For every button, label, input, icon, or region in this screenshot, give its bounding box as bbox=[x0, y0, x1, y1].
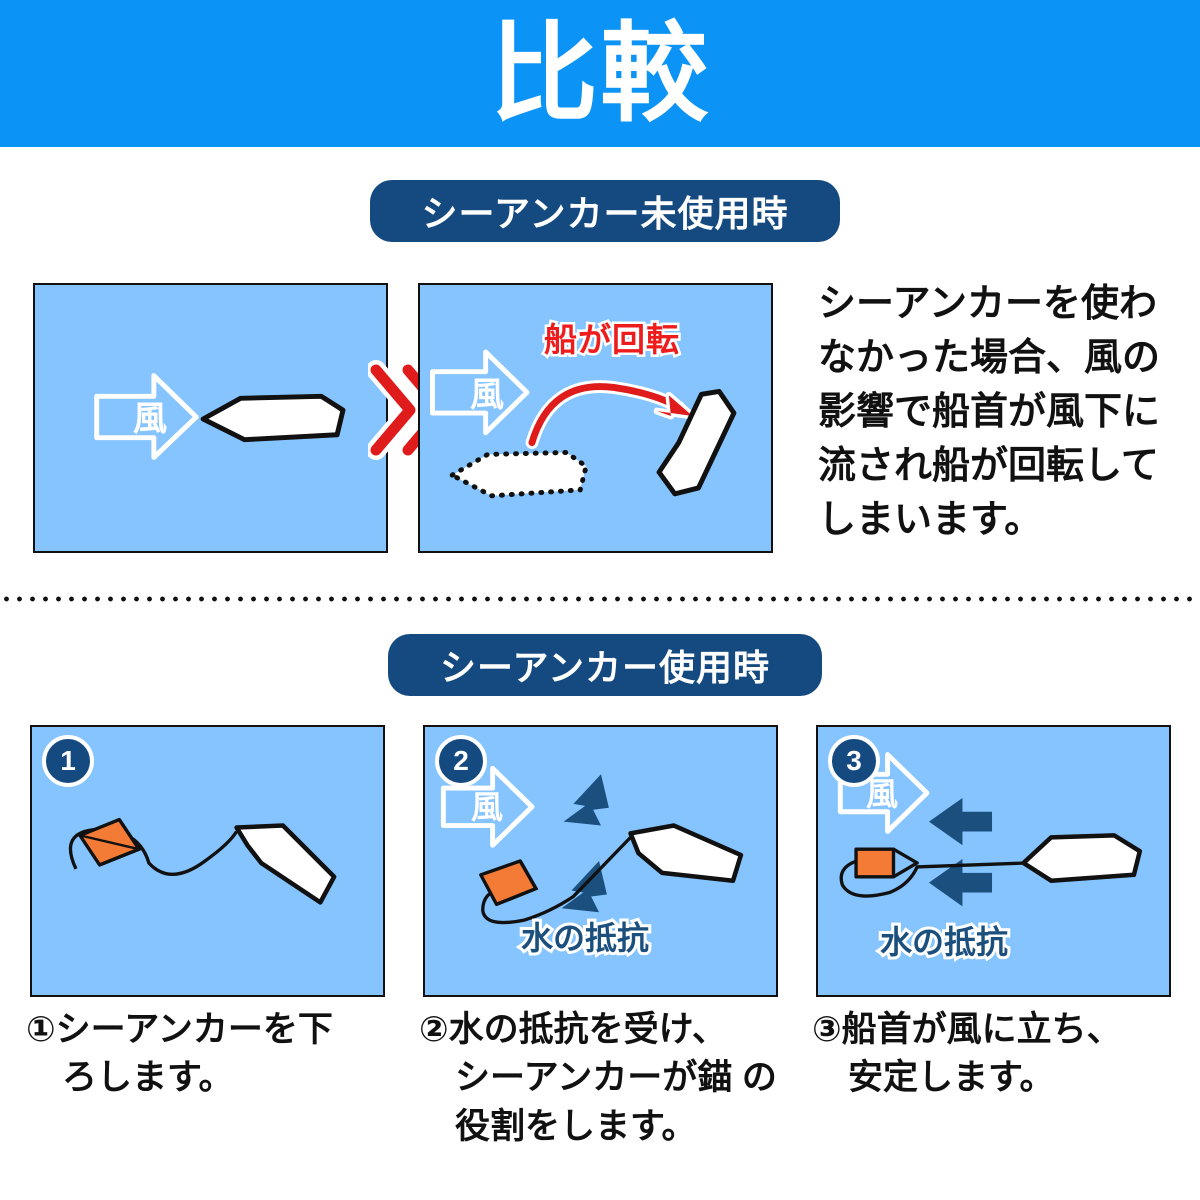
boat-shape bbox=[631, 826, 741, 881]
sea-anchor-shape bbox=[856, 849, 917, 877]
panel-step-2: 2 風 水の抵抗 bbox=[423, 725, 778, 997]
caption-step-1: ①シーアンカーを下 ろします。 bbox=[26, 1006, 386, 1103]
water-resistance-label: 水の抵抗 bbox=[880, 917, 1008, 963]
panel-step-1: 1 bbox=[30, 725, 385, 997]
caption-lead: ③船首が風に立ち、 bbox=[812, 1010, 1122, 1049]
boat-shape bbox=[1024, 835, 1140, 880]
caption-step-3: ③船首が風に立ち、 安定します。 bbox=[812, 1006, 1172, 1103]
section-badge-with-sea-anchor: シーアンカー使用時 bbox=[388, 634, 822, 696]
panel-step-3: 3 風 水の抵抗 bbox=[816, 725, 1171, 997]
header-banner: 比較 bbox=[0, 0, 1200, 147]
page-title: 比較 bbox=[0, 0, 1200, 147]
water-resistance-arrow-upper bbox=[564, 774, 609, 825]
water-resistance-label: 水の抵抗 bbox=[521, 913, 649, 959]
ghost-boat-shape bbox=[452, 452, 586, 495]
panel-without-anchor-before: 風 bbox=[33, 283, 388, 553]
wind-label: 風 bbox=[471, 782, 503, 828]
panel-without-anchor-after: 風 船が回転 bbox=[418, 283, 773, 553]
step-badge-2: 2 bbox=[435, 735, 487, 787]
caption-cont: ろします。 bbox=[26, 1054, 386, 1102]
sea-anchor-shape bbox=[80, 820, 139, 865]
wind-label: 風 bbox=[470, 367, 504, 416]
wind-label: 風 bbox=[133, 391, 167, 440]
caption-step-2: ②水の抵抗を受け、 シーアンカーが錨 の役割をします。 bbox=[419, 1006, 779, 1151]
section-badge-without-sea-anchor: シーアンカー未使用時 bbox=[370, 180, 840, 242]
caption-lead: ①シーアンカーを下 bbox=[26, 1010, 333, 1049]
rotation-arrow-icon bbox=[532, 387, 693, 443]
step-badge-1: 1 bbox=[42, 735, 94, 787]
caption-cont: 安定します。 bbox=[812, 1054, 1172, 1102]
section-divider bbox=[0, 596, 1200, 602]
rotation-annotation: 船が回転 bbox=[544, 313, 680, 361]
wind-label: 風 bbox=[866, 769, 898, 815]
boat-shape bbox=[203, 396, 343, 439]
description-without-anchor: シーアンカーを使わなかった場合、風の影響で船首が風下に流され船が回転してしまいま… bbox=[818, 278, 1188, 548]
caption-cont: シーアンカーが錨 の役割をします。 bbox=[419, 1054, 779, 1151]
sea-anchor-shape bbox=[481, 861, 536, 904]
caption-lead: ②水の抵抗を受け、 bbox=[419, 1010, 727, 1049]
boat-shape bbox=[237, 826, 335, 903]
water-resistance-arrow-upper bbox=[929, 798, 992, 845]
